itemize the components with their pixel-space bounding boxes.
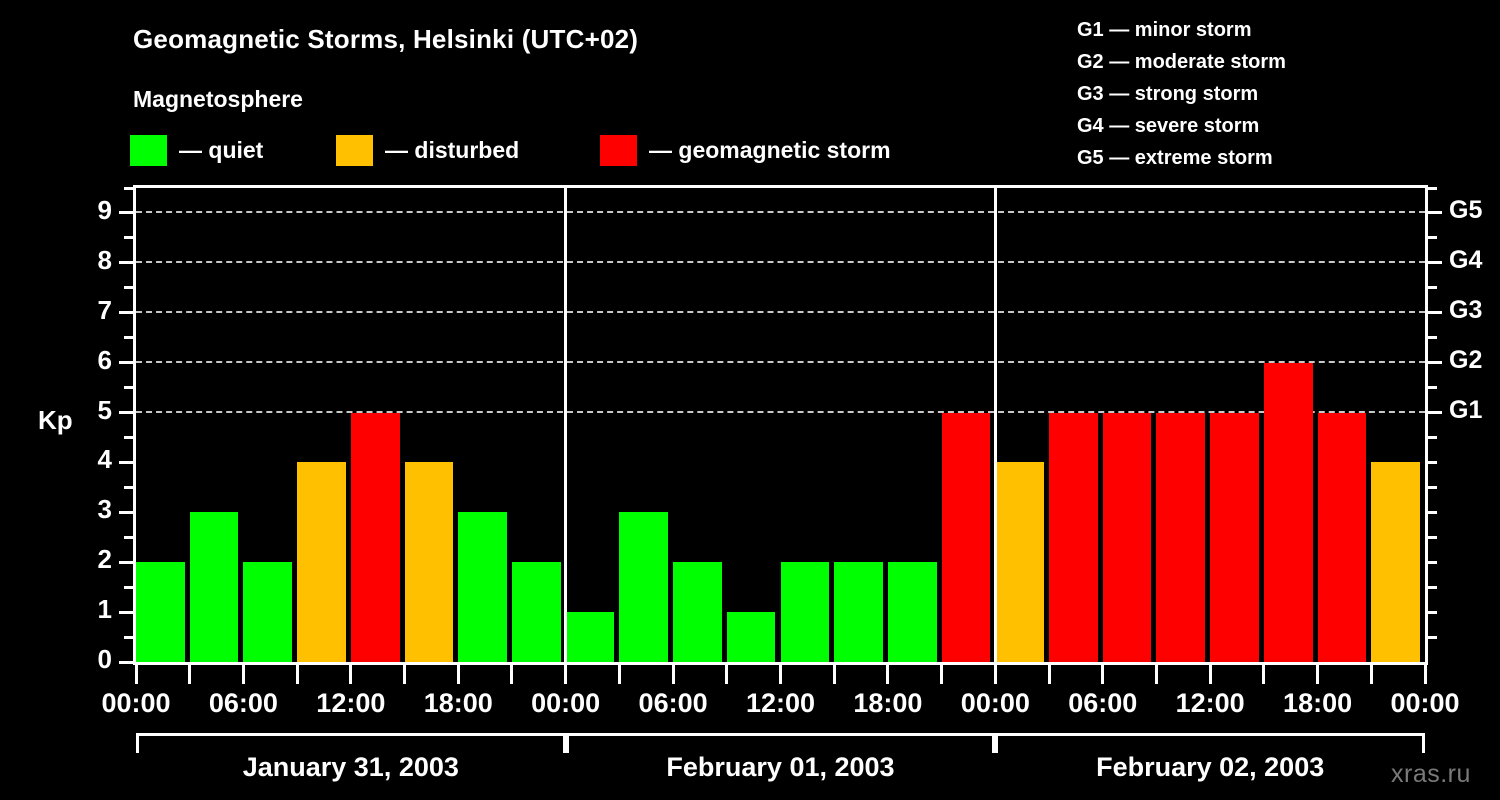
right-axis-minor-tick [1428, 461, 1437, 464]
x-axis-tick [1316, 665, 1319, 684]
y-axis-tick-3 [119, 511, 133, 514]
right-axis-minor-tick [1428, 536, 1437, 539]
legend-label-geomagnetic-storm: — geomagnetic storm [649, 137, 891, 164]
gridline-kp-8 [136, 261, 1425, 263]
x-axis-tick [618, 665, 621, 684]
x-axis-tick [672, 665, 675, 684]
gridline-kp-9 [136, 211, 1425, 213]
y-axis-tick-2 [119, 561, 133, 564]
bar[interactable] [673, 562, 722, 662]
y-axis-minor-tick [124, 236, 133, 239]
bar[interactable] [727, 612, 776, 662]
bar[interactable] [1371, 462, 1420, 662]
y-axis-tick-9 [119, 211, 133, 214]
x-axis-tick [1262, 665, 1265, 684]
right-axis-minor-tick [1428, 636, 1437, 639]
bar[interactable] [781, 562, 830, 662]
legend-label-quiet: — quiet [179, 137, 263, 164]
right-axis-minor-tick [1428, 211, 1437, 214]
day-caption: January 31, 2003 [136, 752, 566, 783]
legend-label-disturbed: — disturbed [385, 137, 519, 164]
x-axis-tick [242, 665, 245, 684]
bar[interactable] [297, 462, 346, 662]
y-axis-tick-7 [119, 311, 133, 314]
x-axis-tick [135, 665, 138, 684]
right-axis-minor-tick [1428, 336, 1437, 339]
y-axis-tick-8 [119, 261, 133, 264]
bar[interactable] [1156, 413, 1205, 662]
y-axis-tick-5 [119, 411, 133, 414]
x-axis-tick [188, 665, 191, 684]
legend-swatch-disturbed-icon [336, 135, 373, 166]
y-axis-label-4: 4 [52, 444, 112, 475]
g-scale-line-3: G3 — strong storm [1077, 78, 1286, 110]
y-axis-minor-tick [124, 536, 133, 539]
right-axis-minor-tick [1428, 586, 1437, 589]
bar[interactable] [1318, 413, 1367, 662]
gridline-kp-7 [136, 311, 1425, 313]
bar[interactable] [995, 462, 1044, 662]
x-axis-tick [1209, 665, 1212, 684]
g-scale-line-5: G5 — extreme storm [1077, 142, 1286, 174]
right-axis-minor-tick [1428, 511, 1437, 514]
right-axis-label-G2: G2 [1449, 346, 1482, 375]
bar[interactable] [942, 413, 991, 662]
bar[interactable] [351, 413, 400, 662]
chart-plot-area [133, 185, 1428, 665]
watermark: xras.ru [1391, 760, 1471, 789]
y-axis-minor-tick [124, 586, 133, 589]
right-axis-minor-tick [1428, 236, 1437, 239]
g-scale-line-2: G2 — moderate storm [1077, 46, 1286, 78]
x-axis-tick [510, 665, 513, 684]
y-axis-minor-tick [124, 636, 133, 639]
x-axis-tick [564, 665, 567, 684]
bar[interactable] [834, 562, 883, 662]
x-axis-tick [725, 665, 728, 684]
right-axis-minor-tick [1428, 361, 1437, 364]
right-axis-minor-tick [1428, 261, 1437, 264]
bar[interactable] [1264, 363, 1313, 662]
bar[interactable] [512, 562, 561, 662]
day-bracket [995, 733, 1425, 753]
right-axis-minor-tick [1428, 436, 1437, 439]
chart-subtitle: Magnetosphere [133, 86, 303, 113]
x-axis-tick [833, 665, 836, 684]
right-axis-minor-tick [1428, 311, 1437, 314]
day-separator [564, 188, 567, 662]
legend-item-quiet: — quiet [130, 135, 263, 166]
x-axis-tick [1424, 665, 1427, 684]
right-axis-label-G3: G3 [1449, 296, 1482, 325]
right-axis-label-G5: G5 [1449, 196, 1482, 225]
y-axis-tick-1 [119, 611, 133, 614]
bar[interactable] [619, 512, 668, 662]
page-title: Geomagnetic Storms, Helsinki (UTC+02) [133, 24, 638, 55]
right-axis-minor-tick [1428, 611, 1437, 614]
x-axis-tick [296, 665, 299, 684]
x-axis-tick [1101, 665, 1104, 684]
y-axis-minor-tick [124, 436, 133, 439]
y-axis-label-8: 8 [52, 245, 112, 276]
y-axis-label-2: 2 [52, 544, 112, 575]
x-axis-tick [403, 665, 406, 684]
y-axis-label-9: 9 [52, 195, 112, 226]
day-caption: February 01, 2003 [566, 752, 996, 783]
x-axis-tick [349, 665, 352, 684]
y-axis-minor-tick [124, 187, 133, 190]
bar[interactable] [566, 612, 615, 662]
day-bracket [136, 733, 566, 753]
right-axis-label-G4: G4 [1449, 246, 1482, 275]
x-axis-tick [886, 665, 889, 684]
right-axis-minor-tick [1428, 386, 1437, 389]
chart-bars-container [136, 188, 1425, 662]
bar[interactable] [243, 562, 292, 662]
y-axis-label-5: 5 [52, 395, 112, 426]
bar[interactable] [405, 462, 454, 662]
g-scale-line-4: G4 — severe storm [1077, 110, 1286, 142]
g-scale-line-1: G1 — minor storm [1077, 14, 1286, 46]
x-axis-tick [940, 665, 943, 684]
x-axis-tick [779, 665, 782, 684]
x-axis-tick [994, 665, 997, 684]
right-axis-minor-tick [1428, 561, 1437, 564]
right-axis-label-G1: G1 [1449, 396, 1482, 425]
bar[interactable] [190, 512, 239, 662]
bar[interactable] [1210, 413, 1259, 662]
y-axis-label-7: 7 [52, 295, 112, 326]
right-axis-minor-tick [1428, 411, 1437, 414]
x-axis-tick [1155, 665, 1158, 684]
y-axis-label-3: 3 [52, 494, 112, 525]
x-axis-tick [1370, 665, 1373, 684]
y-axis-label-0: 0 [52, 644, 112, 675]
y-axis-minor-tick [124, 336, 133, 339]
x-axis-label: 00:00 [1345, 688, 1500, 719]
legend-swatch-geomagnetic-storm-icon [600, 135, 637, 166]
y-axis-label-1: 1 [52, 594, 112, 625]
x-axis-tick [457, 665, 460, 684]
right-axis-minor-tick [1428, 486, 1437, 489]
y-axis-tick-4 [119, 461, 133, 464]
legend-item-disturbed: — disturbed [336, 135, 519, 166]
bar[interactable] [136, 562, 185, 662]
x-axis-tick [1048, 665, 1051, 684]
right-axis-minor-tick [1428, 187, 1437, 190]
day-caption: February 02, 2003 [995, 752, 1425, 783]
bar[interactable] [1103, 413, 1152, 662]
gridline-kp-6 [136, 361, 1425, 363]
y-axis-minor-tick [124, 286, 133, 289]
y-axis-tick-0 [119, 661, 133, 664]
g-scale-legend: G1 — minor stormG2 — moderate stormG3 — … [1077, 14, 1286, 174]
bar[interactable] [1049, 413, 1098, 662]
y-axis-label-6: 6 [52, 345, 112, 376]
day-bracket [566, 733, 996, 753]
right-axis-minor-tick [1428, 286, 1437, 289]
day-separator [994, 188, 997, 662]
bar[interactable] [458, 512, 507, 662]
legend-swatch-quiet-icon [130, 135, 167, 166]
legend-item-geomagnetic-storm: — geomagnetic storm [600, 135, 891, 166]
y-axis-minor-tick [124, 486, 133, 489]
y-axis-minor-tick [124, 386, 133, 389]
bar[interactable] [888, 562, 937, 662]
y-axis-tick-6 [119, 361, 133, 364]
